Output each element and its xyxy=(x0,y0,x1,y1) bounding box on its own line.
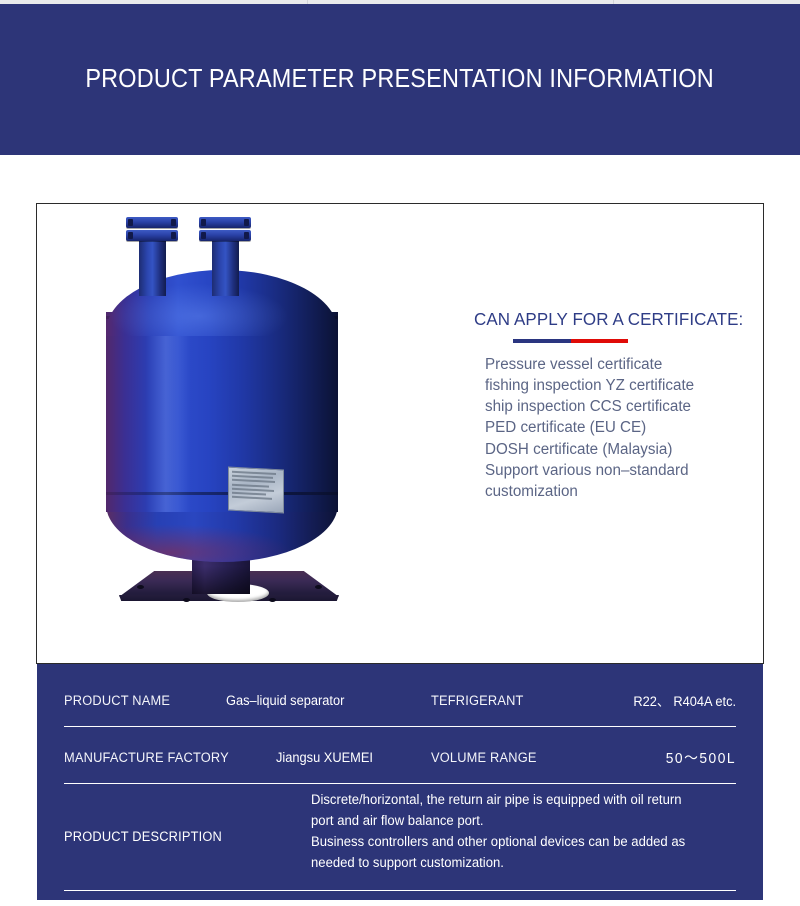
description-line: Discrete/horizontal, the return air pipe… xyxy=(311,789,728,810)
row-divider xyxy=(64,726,736,727)
page-title: PRODUCT PARAMETER PRESENTATION INFORMATI… xyxy=(86,65,715,94)
row-value-product-name: Gas–liquid separator xyxy=(226,693,344,708)
row-value-refrigerant: R22、 R404A etc. xyxy=(633,690,736,710)
specification-nameplate xyxy=(228,467,284,514)
certificate-item: PED certificate (EU CE) xyxy=(485,417,758,438)
description-line: needed to support customization. xyxy=(311,852,728,873)
row-divider xyxy=(64,890,736,891)
flange-right-upper xyxy=(199,217,251,228)
photo-stage xyxy=(37,214,457,654)
certificate-item: customization xyxy=(485,481,758,502)
certificate-block: CAN APPLY FOR A CERTIFICATE: Pressure ve… xyxy=(474,309,764,503)
row-label-volume-range: VOLUME RANGE xyxy=(431,750,537,765)
row-label-manufacture-factory: MANUFACTURE FACTORY xyxy=(64,750,229,765)
certificate-item: Pressure vessel certificate xyxy=(485,354,758,375)
certificate-item: ship inspection CCS certificate xyxy=(485,396,758,417)
header-banner: PRODUCT PARAMETER PRESENTATION INFORMATI… xyxy=(0,4,800,155)
certificate-divider xyxy=(513,339,628,343)
table-row: MANUFACTURE FACTORY Jiangsu XUEMEI VOLUM… xyxy=(37,745,763,769)
certificate-item: Support various non–standard xyxy=(485,460,758,481)
row-value-product-description: Discrete/horizontal, the return air pipe… xyxy=(311,789,728,873)
row-label-refrigerant: TEFRIGERANT xyxy=(431,693,524,708)
flange-left-upper xyxy=(126,217,178,228)
row-value-manufacture-factory: Jiangsu XUEMEI xyxy=(276,750,373,765)
inlet-pipe-left xyxy=(139,232,166,296)
certificate-item: fishing inspection YZ certificate xyxy=(485,375,758,396)
row-label-product-name: PRODUCT NAME xyxy=(64,693,170,708)
table-row: PRODUCT NAME Gas–liquid separator TEFRIG… xyxy=(37,688,763,712)
description-line: Business controllers and other optional … xyxy=(311,831,728,852)
certificate-item: DOSH certificate (Malaysia) xyxy=(485,439,758,460)
row-label-product-description: PRODUCT DESCRIPTION xyxy=(64,829,222,844)
description-line: port and air flow balance port. xyxy=(311,810,728,831)
content-card: CAN APPLY FOR A CERTIFICATE: Pressure ve… xyxy=(36,203,764,664)
product-photo xyxy=(37,214,457,654)
row-value-volume-range: 50～500L xyxy=(666,747,736,768)
certificate-list: Pressure vessel certificate fishing insp… xyxy=(485,354,758,503)
certificate-heading: CAN APPLY FOR A CERTIFICATE: xyxy=(474,309,755,330)
flange-left-lower xyxy=(126,230,178,241)
flange-right-lower xyxy=(199,230,251,241)
vessel-body xyxy=(106,312,338,512)
row-divider xyxy=(64,783,736,784)
spec-table: PRODUCT NAME Gas–liquid separator TEFRIG… xyxy=(37,664,763,900)
outlet-pipe-right xyxy=(212,232,239,296)
